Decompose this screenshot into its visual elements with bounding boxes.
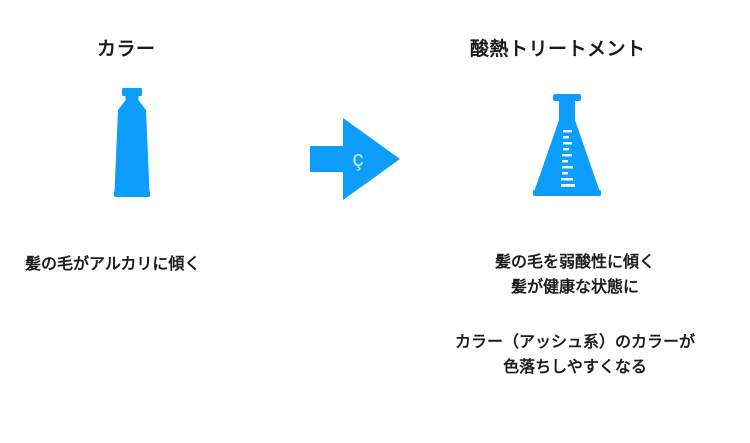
slide-canvas: カラー 髪の毛がアルカリに傾く ç 酸熱トリートメント [0, 0, 750, 443]
right-arrow-icon: ç [305, 114, 405, 204]
erlenmeyer-flask-icon [530, 94, 604, 200]
arrow-inner-glyph: ç [353, 146, 364, 171]
left-column-caption: 髪の毛がアルカリに傾く [25, 252, 200, 277]
hair-color-tube-icon [103, 88, 161, 200]
right-column-primary-caption: 髪の毛を弱酸性に傾く 髪が健康な状態に [420, 250, 730, 300]
left-column-title: カラー [97, 40, 156, 59]
right-column-title: 酸熱トリートメント [470, 40, 646, 59]
right-column-secondary-caption: カラー（アッシュ系）のカラーが 色落ちしやすくなる [412, 330, 738, 380]
